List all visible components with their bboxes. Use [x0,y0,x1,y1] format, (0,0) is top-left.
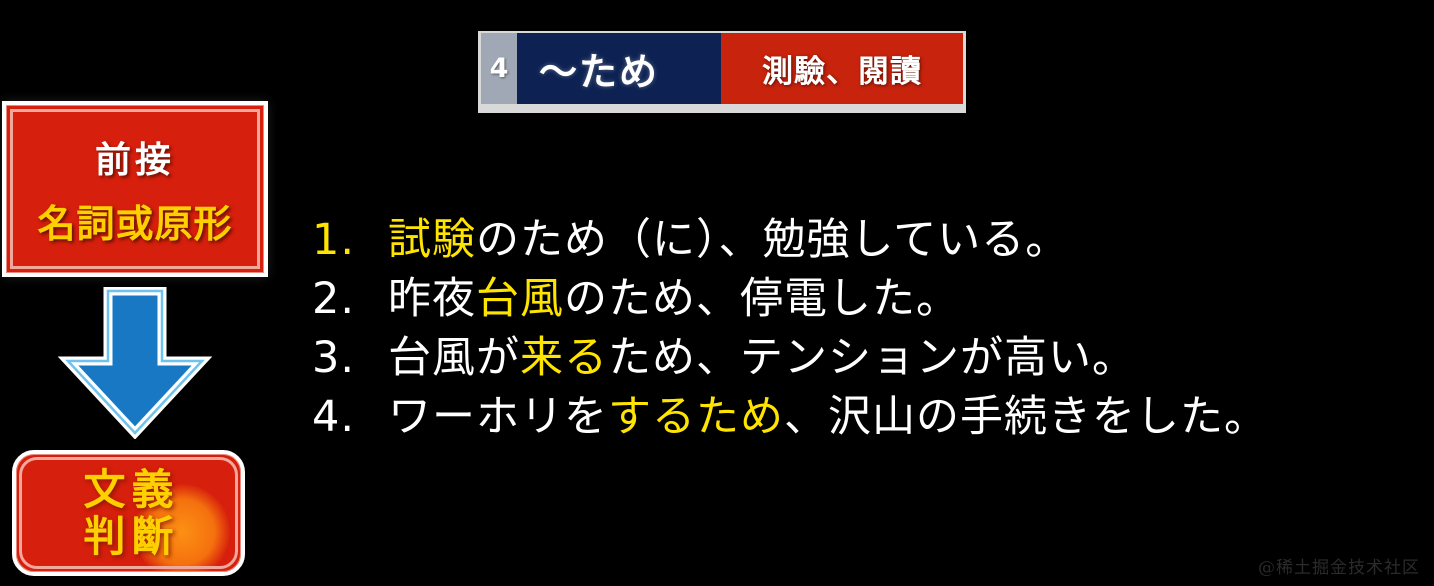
list-item: 1. 試験のため（に）、勉強している。 [312,205,1422,264]
highlighted-run: するため [608,392,784,442]
plain-run: ため、テンションが高い。 [608,333,1136,383]
list-item: 2. 昨夜台風のため、停電した。 [312,264,1422,323]
down-arrow-icon [58,287,212,439]
list-item-marker: 3. [312,333,388,383]
banner-tag: 測驗、閱讀 [721,33,963,104]
highlighted-run: 台風 [476,274,564,324]
list-item: 4. ワーホリをするため、沢山の手続きをした。 [312,382,1422,441]
plain-run: 台風が [388,333,520,383]
watermark: @稀土掘金技术社区 [1258,553,1420,578]
plain-run: のため、停電した。 [564,274,960,324]
precedes-box-detail: 名詞或原形 [37,193,232,248]
plain-run: のため（に）、勉強している。 [476,215,1069,265]
banner-title: ～ため [517,33,721,104]
highlighted-run: 試験 [388,215,476,265]
list-item-text: ワーホリをするため、沢山の手続きをした。 [388,382,1268,444]
plain-run: 昨夜 [388,274,476,324]
slide-canvas: 4 ～ため 測驗、閱讀 前接 名詞或原形 文義 判斷 1. 試験のため（に）、勉… [0,0,1434,586]
list-item: 3. 台風が来るため、テンションが高い。 [312,323,1422,382]
plain-run: 、沢山の手続きをした。 [784,392,1268,442]
judgement-box: 文義 判斷 [12,450,245,576]
list-item-text: 試験のため（に）、勉強している。 [388,205,1069,267]
list-item-marker: 1. [312,215,388,265]
grammar-point-banner: 4 ～ため 測驗、閱讀 [478,31,966,113]
plain-run: ワーホリを [388,392,608,442]
list-item-text: 昨夜台風のため、停電した。 [388,264,960,326]
judgement-box-line2: 判斷 [77,514,179,559]
list-item-marker: 4. [312,392,388,442]
judgement-box-line1: 文義 [77,467,179,512]
example-sentence-list: 1. 試験のため（に）、勉強している。 2. 昨夜台風のため、停電した。 3. … [312,205,1422,441]
precedes-box-heading: 前接 [95,131,175,183]
list-item-marker: 2. [312,274,388,324]
highlighted-run: 来る [520,333,608,383]
list-item-text: 台風が来るため、テンションが高い。 [388,323,1136,385]
precedes-box: 前接 名詞或原形 [2,101,268,277]
banner-number: 4 [481,33,517,104]
